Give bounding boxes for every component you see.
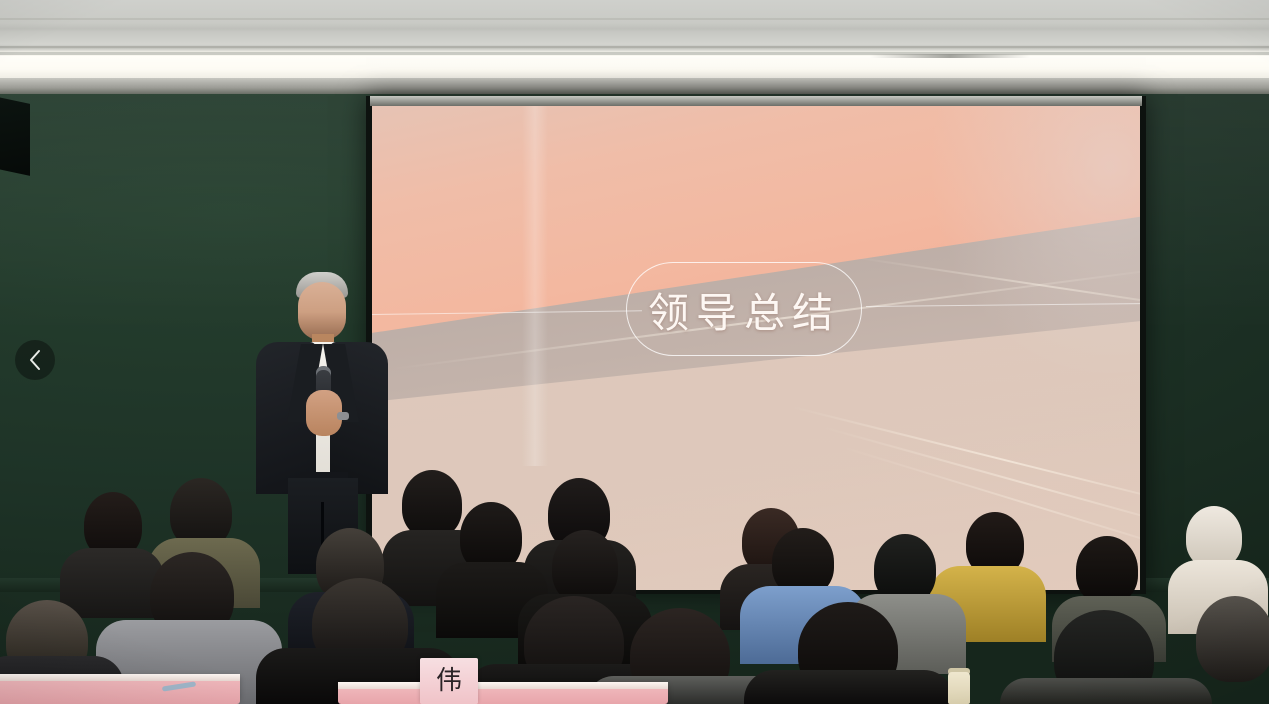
corner-speaker-box [0, 96, 30, 176]
foreground-table-edge [0, 674, 240, 681]
audience-member-body [1000, 678, 1212, 704]
prev-button[interactable] [15, 340, 55, 380]
speaker-watch [337, 412, 349, 420]
screenshot-root: 领导总结 [0, 0, 1269, 704]
speaker-person [248, 272, 396, 572]
slide-title-pill: 领导总结 [626, 262, 862, 356]
projection-screen-roller [370, 96, 1142, 106]
ceiling-seam [0, 18, 1269, 20]
screen-glare [522, 106, 548, 466]
name-placard: 伟 [420, 658, 478, 704]
ceiling-seam [0, 52, 1269, 55]
water-bottle [948, 672, 970, 704]
audience-member [552, 530, 618, 604]
foreground-table [0, 678, 240, 704]
slide-title: 领导总结 [648, 279, 840, 339]
audience-member [402, 470, 462, 538]
audience-member-body [744, 670, 954, 704]
audience-member [1076, 536, 1138, 604]
foreground-table-edge [338, 682, 668, 689]
slide-glow [840, 106, 1140, 406]
ceiling-light-strip [0, 56, 1269, 78]
ceiling-light-fixture-label [870, 54, 1030, 58]
ceiling-seam [0, 46, 1269, 48]
name-placard-text: 伟 [436, 668, 462, 694]
audience-member [1196, 596, 1269, 682]
audience-member [1186, 506, 1242, 568]
audience-member-body [60, 548, 164, 618]
chevron-left-icon [28, 349, 42, 371]
